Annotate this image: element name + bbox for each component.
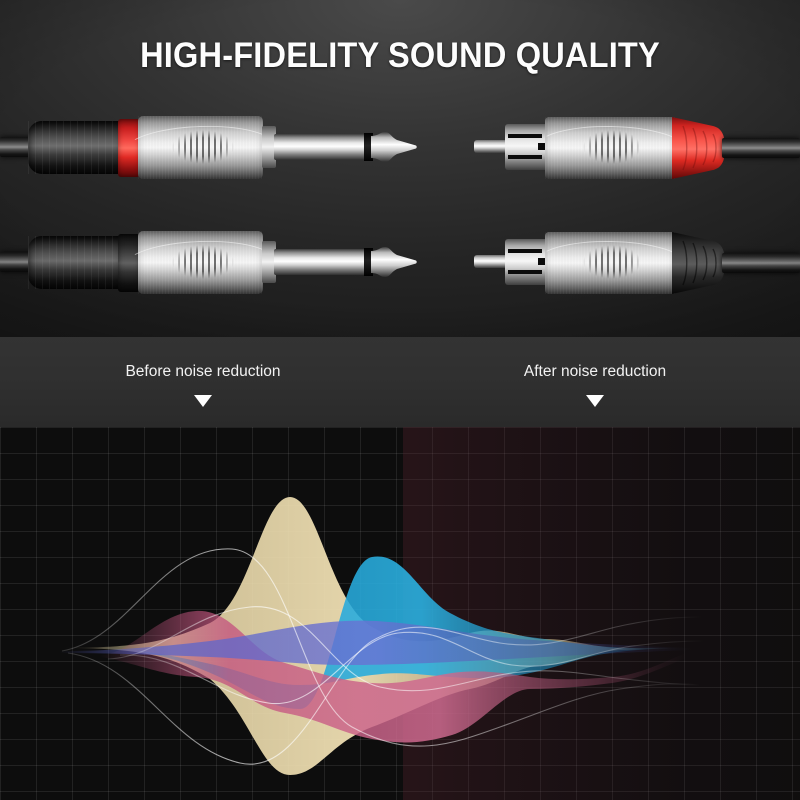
before-arrow-down-icon (194, 395, 212, 407)
comparison-label-band: Before noise reduction After noise reduc… (0, 337, 800, 427)
hero-vignette (0, 0, 800, 337)
waveform-graphic (0, 427, 800, 800)
after-label: After noise reduction (475, 363, 715, 381)
waveform-panel (0, 427, 800, 800)
product-marketing-image: HIGH-FIDELITY SOUND QUALITY (0, 0, 800, 800)
before-label: Before noise reduction (83, 363, 323, 381)
hero-panel: HIGH-FIDELITY SOUND QUALITY (0, 0, 800, 337)
after-arrow-down-icon (586, 395, 604, 407)
